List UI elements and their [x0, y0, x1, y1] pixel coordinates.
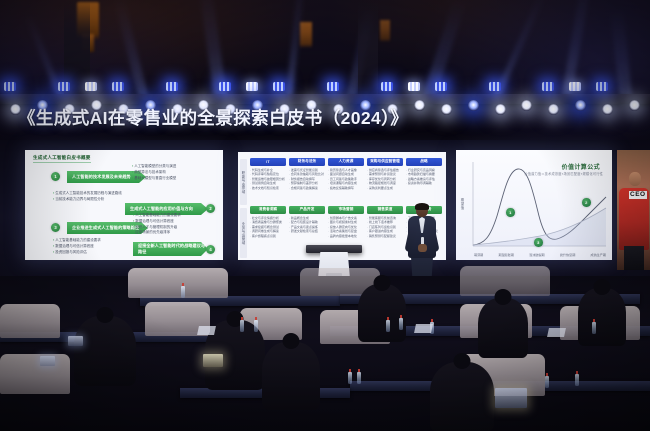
matrix-item: 消费者画像与分群聚类 [250, 220, 286, 225]
spotlight-bulb [495, 104, 506, 115]
spotlight-head [542, 82, 554, 91]
matrix-column-header: 市场营销 [328, 206, 364, 214]
page-title: 《生成式AI在零售业的全景探索白皮书（2024）》 [18, 105, 408, 130]
spotlight-head [435, 82, 447, 91]
spotlight-lens-icon [408, 82, 420, 91]
slide-left-title: 生成式人工智能白皮书概要 [33, 155, 91, 163]
matrix-column: 财务与法务发票与凭证智能识别合同条款抽取与风险比对财务报告自动撰写预算编制与差异… [289, 158, 325, 190]
audience-person-head [454, 353, 471, 369]
spotlight-head [327, 82, 339, 91]
matrix-column-items: 创意脚本与广告文案图片与视频素材生成投放人群定向与优化活动方案策划与复盘品牌内容… [328, 216, 364, 239]
matrix-column-items: 新品概念生成配方与包装设计辅助产品文案与卖点提炼研发文献检索与总结 [289, 216, 325, 234]
hype-chart-x-axis-labels: 萌芽期 期望膨胀期 泡沫破裂期 爬升恢复期 成熟生产期 [474, 252, 606, 257]
matrix-column: 市场营销创意脚本与广告文案图片与视频素材生成投放人群定向与优化活动方案策划与复盘… [328, 206, 364, 238]
spotlight-head [58, 82, 70, 91]
water-bottle [575, 374, 579, 386]
matrix-item: 品牌内容批量本地化 [328, 234, 364, 239]
spotlight-head [569, 82, 581, 91]
paper-document [547, 328, 566, 337]
slide-left-bullets-bottom: 人工智能基础能力的建设要求 数据治理与可信计算底座 投资回报与风险评估 [53, 238, 129, 255]
matrix-column-items: 简历筛选与人才画像面试问题自动生成员工问答与政策助手培训课程与内容生成绩效反馈辅… [328, 168, 364, 191]
matrix-column-items: 发票与凭证智能识别合同条款抽取与风险比对财务报告自动撰写预算编制与差异分析合规问… [289, 168, 325, 191]
matrix-item: 合规问答与政策解读 [289, 186, 325, 191]
spotlight-lens-icon [273, 82, 285, 91]
illuminated-device [203, 354, 223, 367]
matrix-column-header: IT [250, 158, 286, 166]
spotlight-head [381, 82, 393, 91]
matrix-item: 绩效反馈辅助撰写 [328, 186, 364, 191]
matrix-column-header: 人力资源 [328, 158, 364, 166]
slide-left-badge-1: 1 [51, 172, 60, 181]
matrix-item: 研发文献检索与总结 [289, 229, 325, 234]
spotlight-head [246, 82, 258, 91]
hype-marker-3: 3 [534, 238, 543, 247]
spotlight-lens-icon [381, 82, 393, 91]
slide-left-badge-2: 2 [206, 204, 215, 213]
spotlight-lens-icon [327, 82, 339, 91]
warm-pillar-light-center [300, 22, 312, 48]
matrix-column: 产品开发新品概念生成配方与包装设计辅助产品文案与卖点提炼研发文献检索与总结 [289, 206, 325, 234]
side-panel-figure-head [629, 172, 641, 186]
spotlight-head [166, 82, 178, 91]
spotlight-lens-icon [542, 82, 554, 91]
matrix-item: 客户旅程痛点识别 [250, 234, 286, 239]
slide-left-badge-3: 3 [51, 223, 60, 232]
spotlight-lens-icon [596, 82, 608, 91]
spotlight-head [112, 82, 124, 91]
water-bottle [254, 320, 258, 332]
slide-left-badge-4: 4 [206, 245, 215, 254]
side-panel-figure-legs [624, 246, 644, 270]
spotlight-lens-icon [166, 82, 178, 91]
spotlight-lens-icon [219, 82, 231, 91]
audience-person-head [283, 333, 300, 349]
hype-chart-subtitle: 价值潜力值＝技术成熟度×场景匹配度×规模化可行性 [524, 171, 603, 176]
laptop [40, 356, 55, 366]
audience-person [578, 288, 626, 346]
audience-person [478, 298, 528, 358]
matrix-column: 人力资源简历筛选与人才画像面试问题自动生成员工问答与政策助手培训课程与内容生成绩… [328, 158, 364, 190]
laptop [68, 336, 83, 346]
slide-left-bullets-top: 人工智能模型的分类与演进 典型算法与技术架构 基础大模型与垂直行业模型 [132, 164, 214, 181]
slide-left-roadmap: 生成式人工智能白皮书概要 1 人工智能的技术发展及未来趋势 人工智能模型的分类与… [25, 150, 223, 260]
paper-document [197, 326, 216, 335]
presenter-hair [415, 203, 429, 210]
slide-left-bullets-mid: 生成式人工智能技术的发展历程与演进路线 当前技术能力边界与局限性分析 [53, 191, 131, 203]
audience-area [0, 276, 650, 431]
spotlight-head [273, 82, 285, 91]
audience-person-head [97, 307, 114, 323]
spotlight-bulb [629, 100, 640, 111]
slide-right-hype-cycle: 价值计算公式 价值潜力值＝技术成熟度×场景匹配度×规模化可行性 期望值 1 3 … [456, 150, 612, 260]
matrix-item: 销售预测与配额建议 [367, 234, 403, 239]
hype-marker-1: 1 [506, 208, 515, 217]
matrix-column-items: 供应商筛选与评估报告需求预测与补货建议库存优化与周转分析物流路径规划与调度采购谈… [367, 168, 403, 191]
water-bottle [240, 320, 244, 332]
audience-chair [128, 268, 228, 298]
side-display-panel: CEO [617, 150, 650, 270]
spotlight-head [489, 82, 501, 91]
water-bottle [181, 286, 185, 298]
matrix-item: 投资并购尽调辅助 [406, 181, 442, 186]
matrix-column: 战略行业研究与竞品洞察市场趋势扫描与摘要战略方案推演与评估投资并购尽调辅助 [406, 158, 442, 186]
spotlight-lens-icon [58, 82, 70, 91]
matrix-column-header: 销售渠道 [367, 206, 403, 214]
matrix-column: 采购与供应链管理供应商筛选与评估报告需求预测与补货建议库存优化与周转分析物流路径… [367, 158, 403, 190]
spotlight-head [219, 82, 231, 91]
matrix-item: 采购谈判要点生成 [367, 186, 403, 191]
presenter-hands [418, 244, 427, 252]
matrix-column-items: 代码生成与补全代码评审与缺陷定位智能运维与故障根因分析测试用例自动生成技术文档与… [250, 168, 286, 191]
hype-marker-2: 2 [582, 198, 591, 207]
matrix-column-items: 智能客服与售前咨询线上线下话术推荐门店陈列与巡检识别客户跟进内容生成销售预测与配… [367, 216, 403, 239]
matrix-item: 合同条款抽取与风险比对 [289, 172, 325, 177]
spotlight-head [408, 82, 420, 91]
slide-left-bullets-right: 人工智能基础能力的建设要求 数据治理与可信计算底座 组织人才与管理机制的升级 应… [133, 213, 213, 236]
spotlight-bulb [468, 100, 479, 111]
audience-person-head [374, 275, 391, 291]
water-bottle [357, 372, 361, 384]
spotlight-lens-icon [85, 82, 97, 91]
matrix-column-header: 产品开发 [289, 206, 325, 214]
matrix-column: IT代码生成与补全代码评审与缺陷定位智能运维与故障根因分析测试用例自动生成技术文… [250, 158, 286, 190]
spotlight-lens-icon [569, 82, 581, 91]
spotlight-lens-icon [112, 82, 124, 91]
spotlight-head [4, 82, 16, 91]
spotlight-bulb [441, 104, 452, 115]
matrix-column-header: 战略 [406, 158, 442, 166]
spotlight-head [85, 82, 97, 91]
audience-chair [0, 354, 70, 394]
audience-person [74, 316, 136, 386]
matrix-column-header: 采购与供应链管理 [367, 158, 403, 166]
matrix-column-items: 社交与评论情绪分析消费者画像与分群聚类需求挖掘与概念测试调研问卷生成与解读客户旅… [250, 216, 286, 239]
spotlight-lens-icon [246, 82, 258, 91]
matrix-column-header: 消费者洞察 [250, 206, 286, 214]
matrix-column: 消费者洞察社交与评论情绪分析消费者画像与分群聚类需求挖掘与概念测试调研问卷生成与… [250, 206, 286, 238]
warm-pillar-light-right [380, 20, 390, 42]
slide-left-arrow-4: 迎接全新人工智能时代的战略建议与路径 [133, 242, 208, 256]
water-bottle [592, 322, 596, 334]
water-bottle [545, 376, 549, 388]
audience-person-head [495, 289, 512, 305]
audience-chair [0, 304, 60, 338]
lectern-top [306, 245, 362, 253]
hype-chart-y-axis-label: 期望值 [460, 198, 465, 210]
table-card [495, 388, 527, 408]
audience-person-head [594, 279, 611, 295]
water-bottle [348, 372, 352, 384]
matrix-row-label-top: 职能与支撑域 [240, 159, 247, 205]
paper-document [414, 324, 433, 333]
spotlight-bulb [414, 100, 425, 111]
matrix-column-header: 财务与法务 [289, 158, 325, 166]
spotlight-lens-icon [435, 82, 447, 91]
audience-person [262, 342, 320, 410]
conference-stage-photo: 《生成式AI在零售业的全景探索白皮书（2024）》 生成式人工智能白皮书概要 1… [0, 0, 650, 431]
water-bottle [386, 320, 390, 332]
matrix-column-items: 行业研究与竞品洞察市场趋势扫描与摘要战略方案推演与评估投资并购尽调辅助 [406, 168, 442, 186]
matrix-row-label-bottom: 业务与运营域 [240, 208, 247, 258]
matrix-column: 销售渠道智能客服与售前咨询线上线下话术推荐门店陈列与巡检识别客户跟进内容生成销售… [367, 206, 403, 238]
truss-support-right [358, 0, 378, 98]
hype-chart-title: 价值计算公式 [562, 162, 600, 171]
matrix-item: 技术文档与知识检索 [250, 186, 286, 191]
audience-person [430, 362, 494, 431]
spotlight-lens-icon [489, 82, 501, 91]
ceo-badge: CEO [629, 191, 647, 199]
water-bottle [399, 318, 403, 330]
audience-person [358, 284, 406, 342]
spotlight-lens-icon [4, 82, 16, 91]
spotlight-head [596, 82, 608, 91]
